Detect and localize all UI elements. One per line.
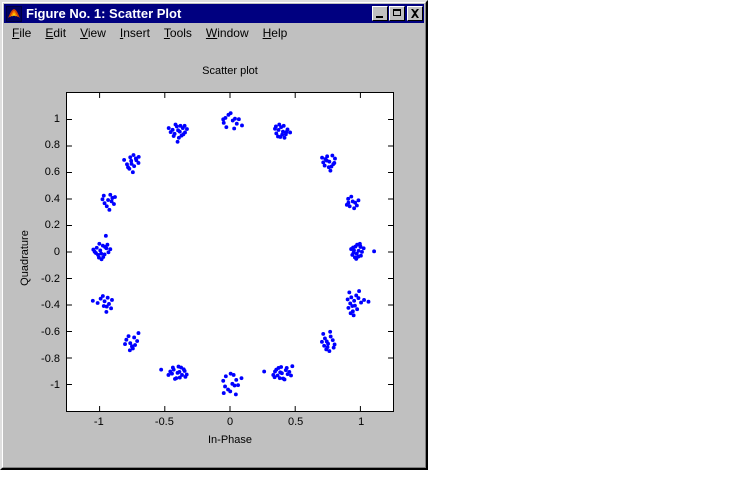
y-tick-label: 0.2: [26, 219, 60, 231]
menu-item-edit[interactable]: Edit: [38, 25, 73, 41]
y-tick-label: 0: [26, 246, 60, 258]
menu-item-file[interactable]: File: [5, 25, 38, 41]
y-tick-label: 0.8: [26, 139, 60, 151]
y-tick-label: 0.4: [26, 193, 60, 205]
y-tick-label: 1: [26, 113, 60, 125]
x-axis-label: In-Phase: [66, 434, 394, 446]
menu-item-view[interactable]: View: [73, 25, 113, 41]
x-tick-label: 1: [358, 416, 364, 428]
x-tick-label: 0: [227, 416, 233, 428]
y-tick-label: -0.4: [26, 299, 60, 311]
menu-bar: File Edit View Insert Tools Window Help: [5, 25, 423, 41]
y-tick-label: -0.8: [26, 353, 60, 365]
y-tick-label: -0.2: [26, 273, 60, 285]
menu-item-window[interactable]: Window: [199, 25, 256, 41]
y-tick-label: -1: [26, 379, 60, 391]
figure-canvas[interactable]: Scatter plot In-Phase Quadrature -1-0.50…: [5, 43, 423, 465]
y-tick-label: 0.6: [26, 166, 60, 178]
plot-title: Scatter plot: [66, 65, 394, 77]
maximize-icon: [393, 9, 401, 16]
window-title: Figure No. 1: Scatter Plot: [26, 4, 371, 23]
close-icon: [408, 7, 422, 20]
close-button[interactable]: [407, 6, 423, 21]
menu-item-help[interactable]: Help: [256, 25, 295, 41]
x-tick-label: -1: [94, 416, 104, 428]
axes-box[interactable]: [66, 92, 394, 412]
x-tick-label: -0.5: [155, 416, 174, 428]
menu-item-tools[interactable]: Tools: [157, 25, 199, 41]
menu-item-insert[interactable]: Insert: [113, 25, 157, 41]
x-tick-label: 0.5: [288, 416, 303, 428]
scatter-series: [91, 111, 376, 396]
maximize-button[interactable]: [389, 6, 405, 21]
figure-window[interactable]: Figure No. 1: Scatter Plot File Edit Vie…: [0, 0, 428, 470]
scatter-plot-svg: [67, 93, 393, 411]
y-tick-label: -0.6: [26, 326, 60, 338]
minimize-button[interactable]: [372, 6, 388, 21]
title-bar[interactable]: Figure No. 1: Scatter Plot: [4, 4, 424, 23]
matlab-membrane-icon: [6, 6, 22, 22]
minimize-icon: [376, 16, 383, 18]
